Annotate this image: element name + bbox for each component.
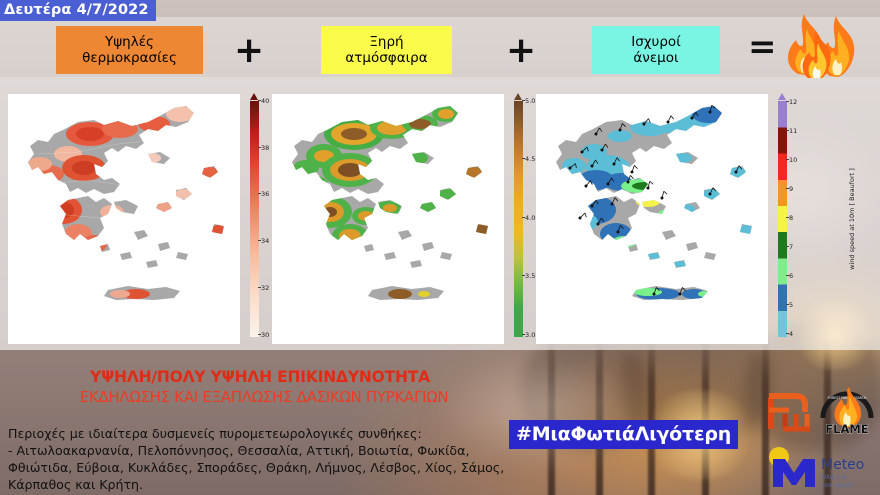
svg-text:Meteo: Meteo: [821, 457, 864, 473]
plus-operator-1: +: [234, 33, 264, 69]
colorbar-arrow-max: [514, 93, 522, 100]
colorbar-tick: 32: [261, 284, 269, 292]
colorbar-title: wind speed at 10m [ Beaufort ]: [848, 168, 856, 270]
temperature-map: [8, 94, 240, 344]
vapor-pressure-deficit-map-panel: [272, 94, 504, 344]
colorbar-arrow-max: [250, 93, 258, 100]
colorbar-ticks: 12 11 10 9 8 7 6 5 4: [789, 94, 815, 344]
factor-box-high-temperatures: Υψηλές θερμοκρασίες: [56, 26, 203, 74]
colorbar-gradient: [514, 101, 523, 337]
temperature-map-panel: [8, 94, 240, 344]
svg-text:FOREST FIRE RESEARCH: FOREST FIRE RESEARCH: [828, 396, 867, 400]
colorbar-tick: 9: [789, 185, 793, 193]
factor-label-dry-air: Ξηρή ατμόσφαιρα: [345, 34, 427, 66]
colorbar-tick: 7: [789, 243, 793, 251]
campaign-hashtag: #ΜιαΦωτιάΛιγότερη: [509, 420, 738, 449]
colorbar-tick: 30: [261, 331, 269, 339]
colorbar-tick: 3.5: [525, 272, 535, 280]
headline-primary: ΥΨΗΛΗ/ΠΟΛΥ ΥΨΗΛΗ ΕΠΙΚΙΝΔΥΝΟΤΗΤΑ: [0, 368, 520, 386]
wind-speed-map-panel: [536, 94, 768, 344]
regions-list: - Αιτωλοακαρνανία, Πελοπόννησος, Θεσσαλί…: [8, 442, 508, 493]
colorbar-tick: 5.0: [525, 97, 535, 105]
date-badge: Δευτέρα 4/7/2022: [0, 0, 156, 21]
fw-logo: [765, 388, 817, 435]
headline-secondary: ΕΚΔΗΛΩΣΗΣ ΚΑΙ ΕΞΑΠΛΩΣΗΣ ΔΑΣΙΚΩΝ ΠΥΡΚΑΓΙΩ…: [0, 388, 528, 406]
equals-operator: =: [748, 30, 777, 64]
colorbar-tick: 4.5: [525, 155, 535, 163]
fire-emoji: [780, 8, 860, 78]
flame-logo: FOREST FIRE RESEARCH FLAME: [818, 385, 876, 437]
meteo-logo: Meteo Όλα για τον καιρό: [765, 443, 877, 491]
colorbar-tick: 12: [789, 98, 797, 106]
svg-text:FLAME: FLAME: [825, 422, 869, 436]
colorbar-tick: 3.0: [525, 331, 535, 339]
wind-speed-map: [536, 94, 768, 344]
svg-text:Όλα για: Όλα για: [820, 473, 847, 481]
regions-lead: Περιοχές με ιδιαίτερα δυσμενείς πυρομετε…: [8, 425, 508, 442]
colorbar-gradient: [778, 101, 787, 337]
colorbar-tick: 38: [261, 144, 269, 152]
regions-description: Περιοχές με ιδιαίτερα δυσμενείς πυρομετε…: [8, 425, 508, 493]
factor-label-wind: Ισχυροί άνεμοι: [631, 34, 681, 66]
factor-box-dry-atmosphere: Ξηρή ατμόσφαιρα: [321, 26, 452, 74]
colorbar-tick: 4: [789, 330, 793, 338]
factor-label-temperature: Υψηλές θερμοκρασίες: [82, 34, 177, 66]
colorbar-tick: 40: [261, 97, 269, 105]
colorbar-tick: 6: [789, 272, 793, 280]
colorbar-tick: 4.0: [525, 214, 535, 222]
colorbar-tick: 5: [789, 301, 793, 309]
svg-text:τον καιρό: τον καιρό: [821, 481, 853, 489]
colorbar-arrow-max: [778, 93, 786, 100]
colorbar-tick: 11: [789, 127, 797, 135]
factor-box-strong-winds: Ισχυροί άνεμοι: [592, 26, 720, 74]
plus-operator-2: +: [506, 33, 536, 69]
colorbar-tick: 36: [261, 190, 269, 198]
colorbar-tick: 10: [789, 156, 797, 164]
colorbar-tick: 34: [261, 237, 269, 245]
colorbar-tick: 8: [789, 214, 793, 222]
wind-speed-colorbar: 12 11 10 9 8 7 6 5 4 wind speed at 10m […: [768, 94, 828, 344]
colorbar-gradient: [250, 101, 259, 337]
vapor-pressure-deficit-map: [272, 94, 504, 344]
